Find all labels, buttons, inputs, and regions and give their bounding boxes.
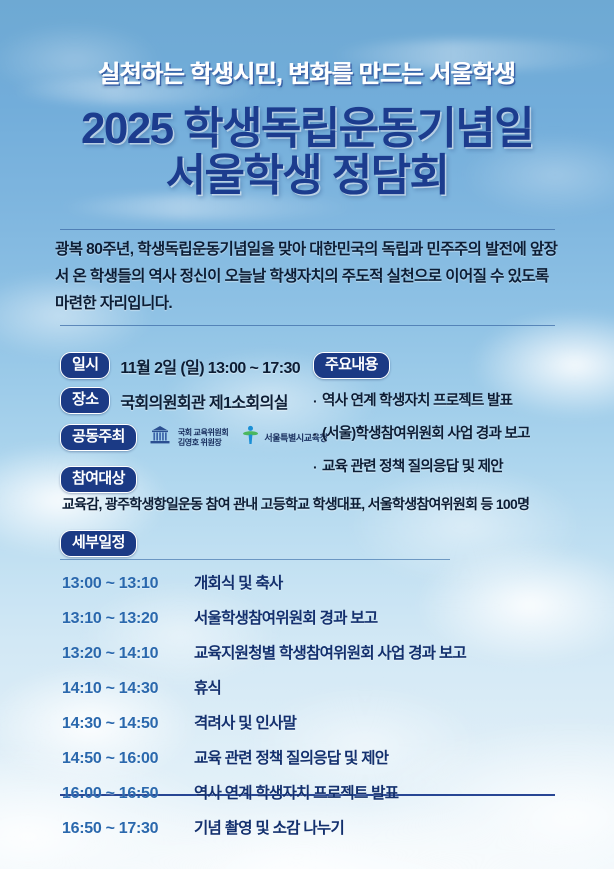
schedule-desc: 교육지원청별 학생참여위원회 사업 경과 보고 (194, 641, 466, 663)
main-content-item-text: (서울)학생참여위원회 사업 경과 보고 (322, 424, 530, 444)
info-row-target: 참여대상 (60, 466, 137, 493)
info-row-host: 공동주최 (60, 424, 327, 451)
poster-title-line-1: 2025 학생독립운동기념일 (0, 105, 614, 153)
host-name-line-2: 김영호 위원장 (178, 438, 222, 447)
schedule-list: 13:00 ~ 13:10 개회식 및 축사 13:10 ~ 13:20 서울학… (62, 571, 542, 851)
divider-top (60, 229, 555, 230)
value-date: 11월 2일 (일) 13:00 ~ 17:30 (120, 354, 300, 378)
schedule-desc: 개회식 및 축사 (194, 571, 283, 593)
main-content-item: · 교육 관련 정책 질의응답 및 제안 (313, 457, 530, 477)
schedule-time: 13:20 ~ 14:10 (62, 645, 180, 663)
poster-description: 광복 80주년, 학생독립운동기념일을 맞아 대한민국의 독립과 민주주의 발전… (55, 236, 563, 317)
bullet-icon: · (313, 424, 317, 444)
host-logo-text-national-assembly: 국회 교육위원회 김영호 위원장 (178, 428, 229, 448)
main-content-item-text: 교육 관련 정책 질의응답 및 제안 (322, 457, 503, 477)
schedule-row: 14:10 ~ 14:30 휴식 (62, 676, 542, 698)
divider-schedule (60, 559, 450, 560)
label-target: 참여대상 (60, 466, 137, 493)
schedule-row: 13:20 ~ 14:10 교육지원청별 학생참여위원회 사업 경과 보고 (62, 641, 542, 663)
schedule-label-wrap: 세부일정 (60, 530, 137, 557)
label-date: 일시 (60, 352, 110, 379)
poster-title-line-2: 서울학생 정담회 (0, 152, 614, 200)
schedule-desc: 교육 관련 정책 질의응답 및 제안 (194, 746, 388, 768)
value-place: 국회의원회관 제1소회의실 (120, 389, 287, 413)
info-row-date: 일시 11월 2일 (일) 13:00 ~ 17:30 (60, 352, 300, 379)
schedule-row: 13:00 ~ 13:10 개회식 및 축사 (62, 571, 542, 593)
bullet-icon: · (313, 457, 317, 477)
schedule-time: 14:50 ~ 16:00 (62, 750, 180, 768)
capitol-building-icon (147, 425, 173, 450)
schedule-row: 13:10 ~ 13:20 서울학생참여위원회 경과 보고 (62, 606, 542, 628)
label-host: 공동주최 (60, 424, 137, 451)
main-content-item: · (서울)학생참여위원회 사업 경과 보고 (313, 424, 530, 444)
host-name-line-1: 국회 교육위원회 (178, 428, 229, 437)
host-logo-national-assembly: 국회 교육위원회 김영호 위원장 (147, 425, 229, 450)
schedule-desc: 기념 촬영 및 소감 나누기 (194, 816, 344, 838)
schedule-time: 13:10 ~ 13:20 (62, 610, 180, 628)
info-row-place: 장소 국회의원회관 제1소회의실 (60, 387, 288, 414)
schedule-row: 16:00 ~ 16:50 역사 연계 학생자치 프로젝트 발표 (62, 781, 542, 803)
schedule-time: 14:30 ~ 14:50 (62, 715, 180, 733)
schedule-row: 14:30 ~ 14:50 격려사 및 인사말 (62, 711, 542, 733)
schedule-desc: 휴식 (194, 676, 221, 698)
poster-tagline: 실천하는 학생시민, 변화를 만드는 서울학생 (0, 54, 614, 89)
main-content-section: 주요내용 · 역사 연계 학생자치 프로젝트 발표 · (서울)학생참여위원회 … (313, 352, 530, 490)
main-content-item: · 역사 연계 학생자치 프로젝트 발표 (313, 391, 530, 411)
schedule-time: 16:50 ~ 17:30 (62, 820, 180, 838)
seoul-education-logo-icon (242, 425, 259, 450)
divider-middle (60, 325, 555, 326)
schedule-time: 14:10 ~ 14:30 (62, 680, 180, 698)
host-logos: 국회 교육위원회 김영호 위원장 서울특별시교육청 (147, 425, 328, 450)
label-place: 장소 (60, 387, 110, 414)
label-schedule: 세부일정 (60, 530, 137, 557)
schedule-desc: 서울학생참여위원회 경과 보고 (194, 606, 378, 628)
schedule-desc: 격려사 및 인사말 (194, 711, 296, 733)
schedule-row: 16:50 ~ 17:30 기념 촬영 및 소감 나누기 (62, 816, 542, 838)
value-target: 교육감, 광주학생항일운동 참여 관내 고등학교 학생대표, 서울학생참여위원회… (62, 494, 529, 514)
schedule-time: 13:00 ~ 13:10 (62, 575, 180, 593)
label-main-content: 주요내용 (313, 352, 390, 379)
main-content-item-text: 역사 연계 학생자치 프로젝트 발표 (322, 391, 512, 411)
event-poster: 실천하는 학생시민, 변화를 만드는 서울학생 2025 학생독립운동기념일 서… (0, 0, 614, 869)
schedule-time: 16:00 ~ 16:50 (62, 785, 180, 803)
schedule-row: 14:50 ~ 16:00 교육 관련 정책 질의응답 및 제안 (62, 746, 542, 768)
main-content-list: · 역사 연계 학생자치 프로젝트 발표 · (서울)학생참여위원회 사업 경과… (313, 391, 530, 477)
schedule-desc: 역사 연계 학생자치 프로젝트 발표 (194, 781, 398, 803)
bullet-icon: · (313, 391, 317, 411)
